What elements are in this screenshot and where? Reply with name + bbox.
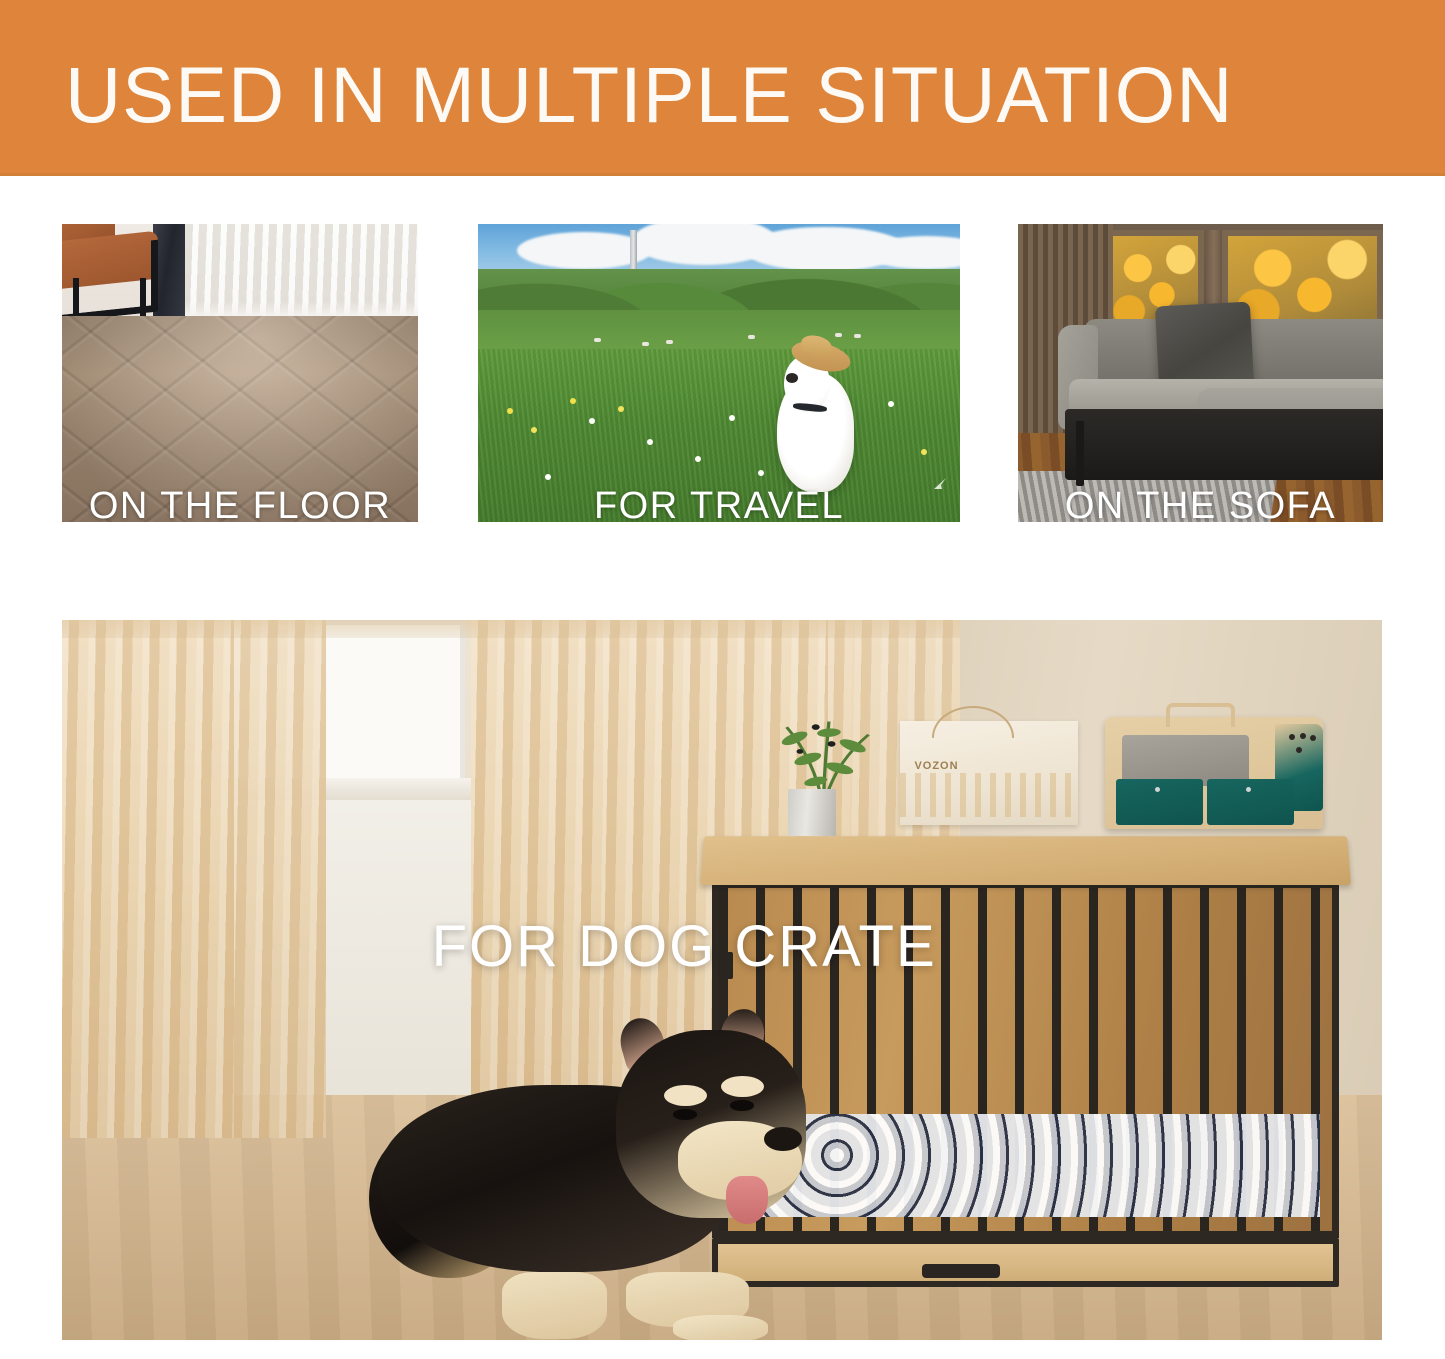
carrier-snap-button bbox=[1155, 787, 1160, 792]
white-dog-snout bbox=[786, 373, 799, 383]
flower bbox=[921, 449, 927, 455]
card-label-for-travel: FOR TRAVEL bbox=[478, 484, 960, 522]
carrier-vent-hole bbox=[1296, 747, 1302, 753]
sheep bbox=[666, 340, 673, 344]
sheep bbox=[748, 335, 755, 339]
dog-eyebrow-marking bbox=[721, 1076, 764, 1097]
crate-wood-top bbox=[700, 836, 1351, 885]
carrier-vent-hole bbox=[1300, 733, 1306, 739]
sheep bbox=[594, 338, 601, 342]
dog-tongue bbox=[726, 1176, 769, 1224]
curtain-rod bbox=[62, 620, 960, 638]
flower bbox=[758, 470, 764, 476]
dog-foreleg bbox=[502, 1272, 607, 1339]
plant-pot bbox=[788, 789, 836, 836]
sofa-leg bbox=[1076, 421, 1083, 487]
sheep bbox=[854, 334, 861, 338]
flower bbox=[647, 439, 653, 445]
carrier-pocket bbox=[1116, 779, 1203, 826]
sofa-cushion-pillow bbox=[1155, 302, 1254, 390]
header-banner: USED IN MULTIPLE SITUATION bbox=[0, 0, 1445, 176]
sheep bbox=[642, 342, 649, 346]
dog-eye bbox=[673, 1109, 697, 1120]
situation-card-on-the-floor[interactable]: ON THE FLOOR bbox=[62, 224, 418, 522]
dog-paw bbox=[673, 1315, 768, 1340]
malamute-dog bbox=[379, 1030, 854, 1332]
flower bbox=[545, 474, 551, 480]
flower bbox=[618, 406, 624, 412]
grassland-travel-photo bbox=[478, 224, 960, 522]
flower bbox=[507, 408, 513, 414]
crate-door-handle[interactable] bbox=[922, 1264, 1000, 1278]
hero-dog-crate-photo[interactable]: VOZON FOR DO bbox=[62, 620, 1382, 1340]
carrier-snap-button bbox=[1246, 787, 1251, 792]
sheer-curtain-panel bbox=[234, 620, 326, 1138]
shopping-bag-pattern bbox=[900, 773, 1078, 817]
shopping-bag: VOZON bbox=[900, 721, 1078, 825]
carrier-vent-hole bbox=[1289, 734, 1295, 740]
situation-card-for-travel[interactable]: FOR TRAVEL bbox=[478, 224, 960, 522]
sofa-room-photo bbox=[1018, 224, 1383, 522]
hero-label: FOR DOG CRATE bbox=[432, 915, 937, 979]
flower bbox=[695, 456, 701, 462]
dog-eyebrow-marking bbox=[664, 1085, 707, 1106]
pet-carrier-backpack bbox=[1105, 717, 1323, 829]
card-label-on-the-sofa: ON THE SOFA bbox=[1018, 484, 1383, 522]
floor-room-photo bbox=[62, 224, 418, 522]
card-label-on-the-floor: ON THE FLOOR bbox=[62, 484, 418, 522]
sheer-curtain-panel bbox=[62, 620, 234, 1138]
dog-eye bbox=[730, 1100, 754, 1111]
situation-card-row: ON THE FLOOR bbox=[0, 224, 1445, 522]
flower bbox=[589, 418, 595, 424]
shopping-bag-brand: VOZON bbox=[914, 760, 958, 772]
situation-card-on-the-sofa[interactable]: ON THE SOFA bbox=[1018, 224, 1383, 522]
sheep bbox=[835, 333, 842, 337]
carrier-handle bbox=[1166, 703, 1236, 728]
flower bbox=[888, 401, 894, 407]
carrier-pocket bbox=[1207, 779, 1294, 826]
page-title: USED IN MULTIPLE SITUATION bbox=[65, 52, 1233, 138]
sofa-base bbox=[1065, 409, 1383, 481]
carrier-vent-hole bbox=[1310, 735, 1316, 741]
dog-nose bbox=[764, 1127, 802, 1151]
flower bbox=[729, 415, 735, 421]
flower bbox=[531, 427, 537, 433]
sheer-curtain bbox=[179, 224, 418, 322]
flower bbox=[570, 398, 576, 404]
